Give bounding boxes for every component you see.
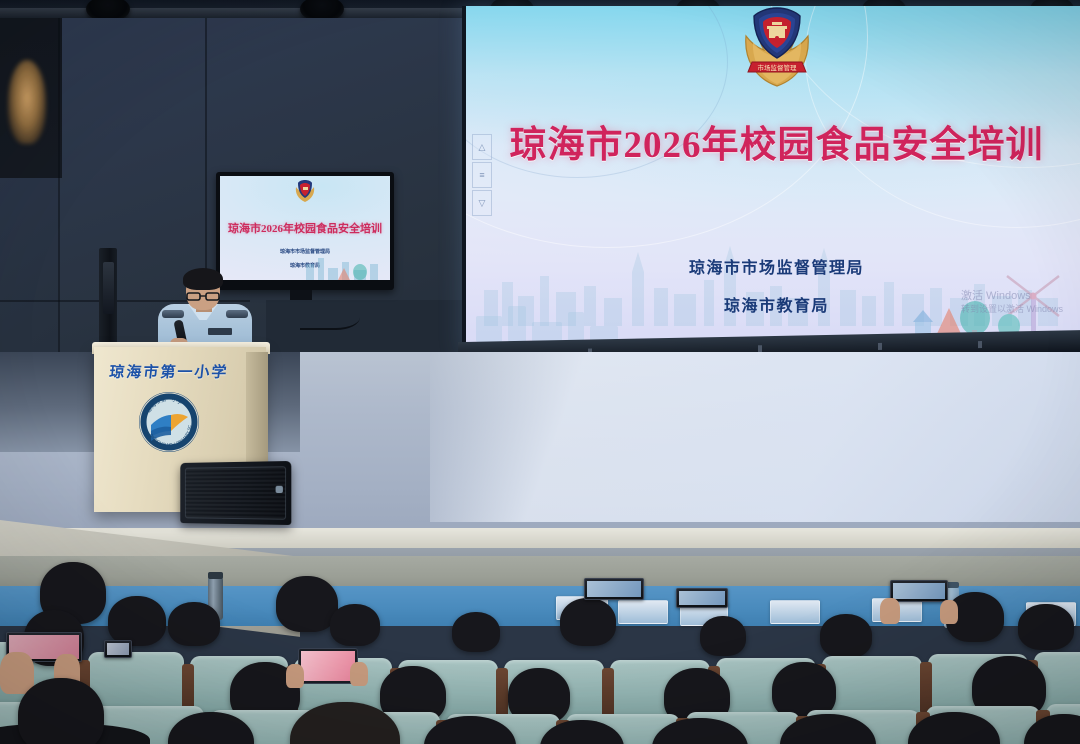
audience-area — [0, 556, 1080, 744]
attendee-head — [330, 604, 380, 646]
monitor-cable — [300, 298, 360, 330]
glasses-icon — [186, 288, 220, 297]
presenter-epaulette — [226, 310, 248, 318]
attendee-phone — [676, 588, 728, 608]
attendee-hand — [0, 652, 34, 694]
attendee-phone — [890, 580, 948, 602]
attendee-phone — [584, 578, 644, 600]
watermark-line-2: 转到设置以激活 Windows — [961, 303, 1079, 316]
attendee-hand — [880, 598, 900, 624]
seat-back-panel — [618, 600, 668, 624]
projection-screen[interactable]: 市场监督管理 — [462, 6, 1080, 354]
stage-wedge-monitor — [180, 461, 291, 525]
auditorium-seat — [822, 656, 922, 718]
svg-text:市场监督管理: 市场监督管理 — [757, 63, 797, 72]
presenter-hair — [183, 268, 223, 290]
attendee-head — [452, 612, 500, 652]
attendee-head — [1018, 604, 1074, 650]
presenter-name-badge — [208, 328, 232, 335]
attendee-head — [700, 616, 746, 656]
screen-menu-button[interactable]: ≡ — [472, 162, 492, 188]
attendee-head — [820, 614, 872, 658]
seat-armrest — [920, 662, 932, 714]
attendee-head — [560, 598, 616, 646]
phone-screen — [587, 581, 641, 597]
auditorium-photo: 市场监督管理 — [0, 0, 1080, 744]
attendee-head — [108, 596, 166, 646]
phone-screen — [107, 643, 129, 655]
attendee-head — [168, 602, 220, 646]
phone-screen — [893, 583, 945, 599]
speaker-badge — [276, 486, 283, 493]
podium-school-name: 琼海市第一小学 — [93, 361, 245, 382]
screen-down-button[interactable]: ▽ — [472, 190, 492, 216]
attendee-head — [276, 576, 338, 632]
screen-control-buttons[interactable]: △ ≡ ▽ — [472, 134, 492, 218]
stage-light-reflection — [430, 352, 1080, 522]
attendee-hand — [350, 662, 368, 686]
attendee-phone — [104, 640, 132, 658]
slide-surface: 市场监督管理 — [466, 6, 1080, 344]
bottle-cap — [208, 572, 223, 579]
attendee-hand — [286, 664, 304, 688]
speaker-grill — [185, 466, 286, 520]
seat-armrest — [602, 668, 614, 720]
attendee-hand — [940, 600, 958, 624]
seat-back-panel — [770, 600, 820, 624]
windows-activation-watermark: 激活 Windows 转到设置以激活 Windows — [961, 290, 1079, 316]
slide-subtitle-primary: 琼海市市场监督管理局 — [466, 254, 1080, 278]
attendee-head — [18, 678, 104, 744]
slide-title: 琼海市2026年校园食品安全培训 — [466, 114, 1080, 168]
attendee-tablet — [298, 648, 358, 684]
wall-sconce — [103, 262, 114, 314]
wall-light-panel — [0, 18, 62, 178]
confidence-monitor-screen: 琼海市2026年校园食品安全培训 琼海市市场监督管理局 琼海市教育局 — [220, 176, 390, 280]
tablet-screen — [301, 651, 355, 681]
screen-up-button[interactable]: △ — [472, 134, 492, 160]
phone-screen — [679, 591, 725, 605]
school-crest-logo: 琼海市第一小学 QIONGHAI NO.1 PRIMARY SCHOOL — [138, 391, 200, 453]
market-supervision-emblem-small — [293, 178, 317, 204]
market-supervision-emblem: 市场监督管理 — [734, 6, 820, 92]
seat-armrest — [496, 668, 508, 720]
watermark-line-1: 激活 Windows — [961, 290, 1079, 303]
presenter-epaulette — [162, 310, 184, 318]
monitor-slide-title: 琼海市2026年校园食品安全培训 — [220, 220, 390, 236]
